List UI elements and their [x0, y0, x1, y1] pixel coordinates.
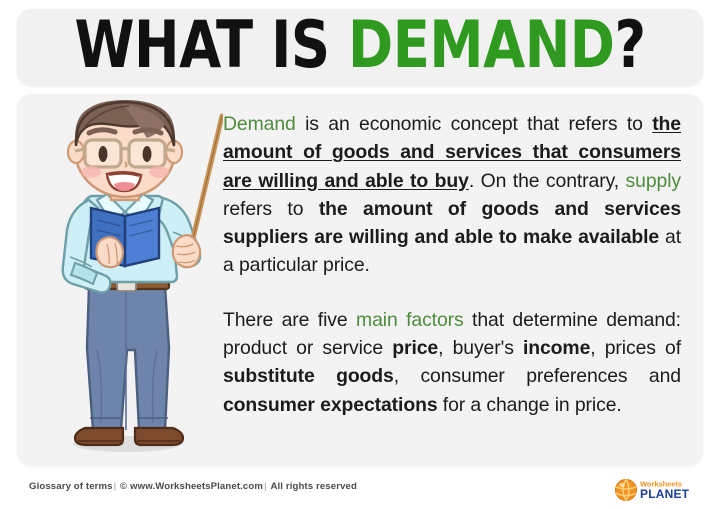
term-demand: Demand: [223, 113, 296, 135]
title-card: WHAT IS DEMAND?: [17, 9, 703, 86]
footer-credit-line: Glossary of terms| © www.WorksheetsPlane…: [29, 481, 357, 492]
p2-seg5: , buyer's: [438, 337, 523, 359]
definition-text-column: Demand is an economic concept that refer…: [223, 110, 681, 419]
p2-seg1: There are five: [223, 309, 356, 331]
teacher-character-illustration: [23, 100, 223, 458]
term-main-factors: main factors: [356, 309, 464, 331]
page-title-suffix: ?: [614, 9, 645, 83]
globe-ball-icon: [616, 480, 637, 501]
factor-price: price: [392, 337, 438, 359]
worksheets-planet-logo[interactable]: Worksheets PLANET: [614, 477, 704, 502]
footer-glossary-label: Glossary of terms: [29, 481, 113, 492]
factor-income: income: [523, 337, 590, 359]
footer: Glossary of terms| © www.WorksheetsPlane…: [0, 470, 720, 509]
p2-seg7: , prices of: [590, 337, 681, 359]
term-supply: supply: [626, 170, 681, 192]
footer-separator-2: |: [263, 481, 268, 492]
factor-substitute-goods: substitute goods: [223, 365, 394, 387]
footer-separator-1: |: [113, 481, 118, 492]
footer-rights-label: All rights reserved: [270, 481, 357, 492]
p1-seg4: . On the contrary,: [469, 170, 626, 192]
svg-text:PLANET: PLANET: [640, 487, 690, 501]
content-card: Demand is an economic concept that refer…: [17, 94, 703, 466]
paragraph-demand-definition: Demand is an economic concept that refer…: [223, 110, 681, 280]
p1-seg6: refers to: [223, 198, 319, 220]
worksheet-page: WHAT IS DEMAND?: [0, 0, 720, 509]
footer-website-link[interactable]: www.WorksheetsPlanet.com: [130, 481, 263, 492]
p2-seg11: for a change in price.: [438, 394, 622, 416]
factor-consumer-expectations: consumer expectations: [223, 394, 438, 416]
page-title-highlight: DEMAND: [348, 9, 614, 83]
p2-seg9: , consumer preferences and: [394, 365, 681, 387]
p1-seg2: is an economic concept that refers to: [296, 113, 653, 135]
page-title-plain: WHAT IS: [74, 9, 348, 83]
page-title: WHAT IS DEMAND?: [74, 13, 645, 82]
copyright-icon: ©: [120, 481, 127, 492]
paragraph-demand-factors: There are five main factors that determi…: [223, 306, 681, 419]
